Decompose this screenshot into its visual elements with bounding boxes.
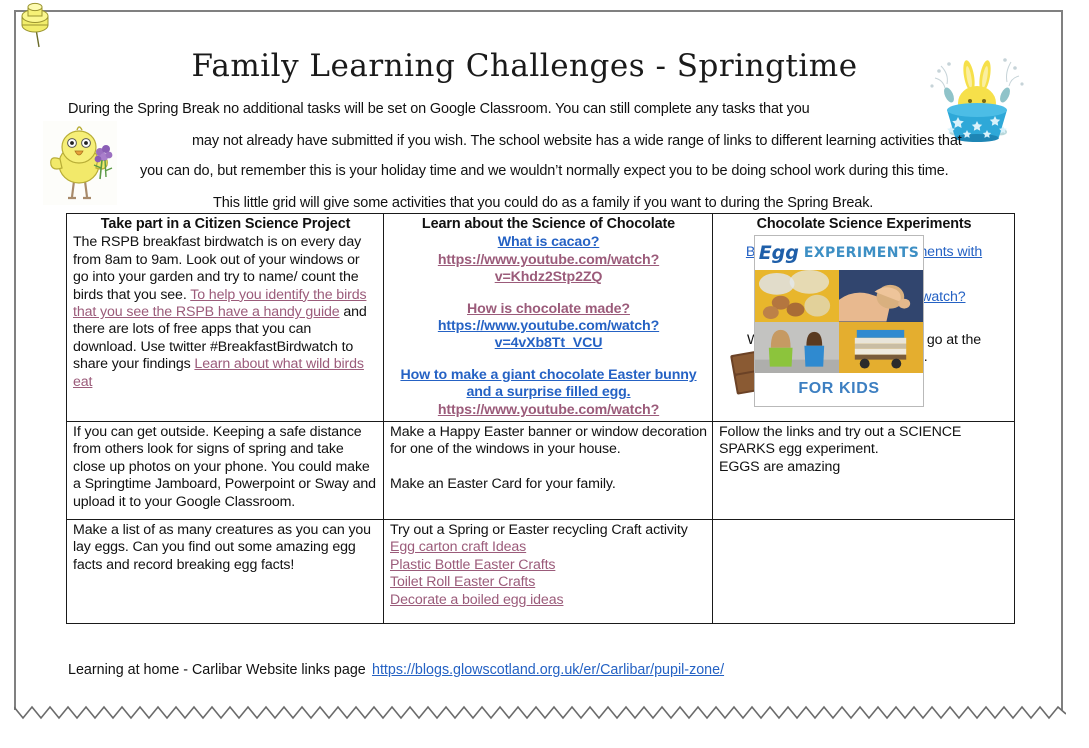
footer-label: Learning at home - Carlibar Website link… [68,662,366,678]
egg-photo-3 [755,322,839,374]
egg-photo-collage [755,270,923,373]
intro-line-1: During the Spring Break no additional ta… [68,101,810,117]
zigzag-edge-icon [14,705,1066,727]
cell-r1c2-heading: Learn about the Science of Chocolate [390,216,707,233]
bunny-in-teacup-image [925,48,1029,143]
how-chocolate-made-link[interactable]: How is chocolate made? [390,301,707,318]
cell-r3c2-intro: Try out a Spring or Easter recycling Cra… [390,522,707,539]
cell-r2c2-line2: Make an Easter Card for your family. [390,476,707,493]
cell-r2c1: If you can get outside. Keeping a safe d… [67,422,383,519]
intro-line-3: you can do, but remember this is your ho… [140,163,949,179]
toilet-roll-crafts-link[interactable]: Toilet Roll Easter Crafts [390,574,707,591]
cell-r2c3-line2: EGGS are amazing [719,459,1009,476]
giant-easter-bunny-link[interactable]: How to make a giant chocolate Easter bun… [390,367,707,402]
chocolate-made-video-url[interactable]: https://www.youtube.com/watch?v=4vXb8Tt_… [390,318,707,353]
chick-with-flowers-image [43,121,117,205]
grid-border-right [1014,213,1015,623]
torn-paper-edge [14,705,1066,727]
cell-r3c1: Make a list of as many creatures as you … [67,520,383,622]
cell-r1c1-heading: Take part in a Citizen Science Project [73,216,378,233]
plastic-bottle-crafts-link[interactable]: Plastic Bottle Easter Crafts [390,557,707,574]
spacer-2 [390,353,707,367]
carlibar-website-link[interactable]: https://blogs.glowscotland.org.uk/er/Car… [372,662,724,678]
egg-title-word1: Egg [759,242,799,264]
spacer-6 [390,459,707,476]
cell-r2c3-merged: Follow the links and try out a SCIENCE S… [713,422,1014,622]
egg-photo-4 [839,322,923,374]
pushpin-icon [14,2,58,50]
egg-title-word2: EXPERIMENTS [804,245,919,261]
cell-r1c2: Learn about the Science of Chocolate Wha… [384,214,712,421]
cell-r2c2: Make a Happy Easter banner or window dec… [384,422,712,519]
cell-r1c3-heading: Chocolate Science Experiments [719,216,1009,233]
boiled-egg-ideas-link[interactable]: Decorate a boiled egg ideas [390,592,707,609]
cacao-video-url[interactable]: https://www.youtube.com/watch?v=Khdz2Stp… [390,252,707,287]
cell-r3c2: Try out a Spring or Easter recycling Cra… [384,520,712,622]
intro-line-2: may not already have submitted if you wi… [192,133,962,149]
egg-image-footer: FOR KIDS [755,373,923,404]
egg-photo-2 [839,270,923,322]
cell-r2c3-line1: Follow the links and try out a SCIENCE S… [719,424,1009,459]
easter-bunny-video-url[interactable]: https://www.youtube.com/watch?v=b5dpvTj8… [390,402,707,421]
egg-image-title: Egg EXPERIMENTS [755,236,923,270]
spacer-1 [390,287,707,301]
egg-photo-1 [755,270,839,322]
egg-carton-craft-link[interactable]: Egg carton craft Ideas [390,539,707,556]
cell-r2c2-line1: Make a Happy Easter banner or window dec… [390,424,707,459]
what-is-cacao-link[interactable]: What is cacao? [390,234,707,251]
cell-r1c1: Take part in a Citizen Science Project T… [67,214,383,421]
intro-line-4: This little grid will give some activiti… [213,195,873,211]
page-title: Family Learning Challenges - Springtime [0,48,1049,84]
grid-border-bottom [66,623,1015,624]
egg-experiments-image: Egg EXPERIMENTS [754,235,924,407]
